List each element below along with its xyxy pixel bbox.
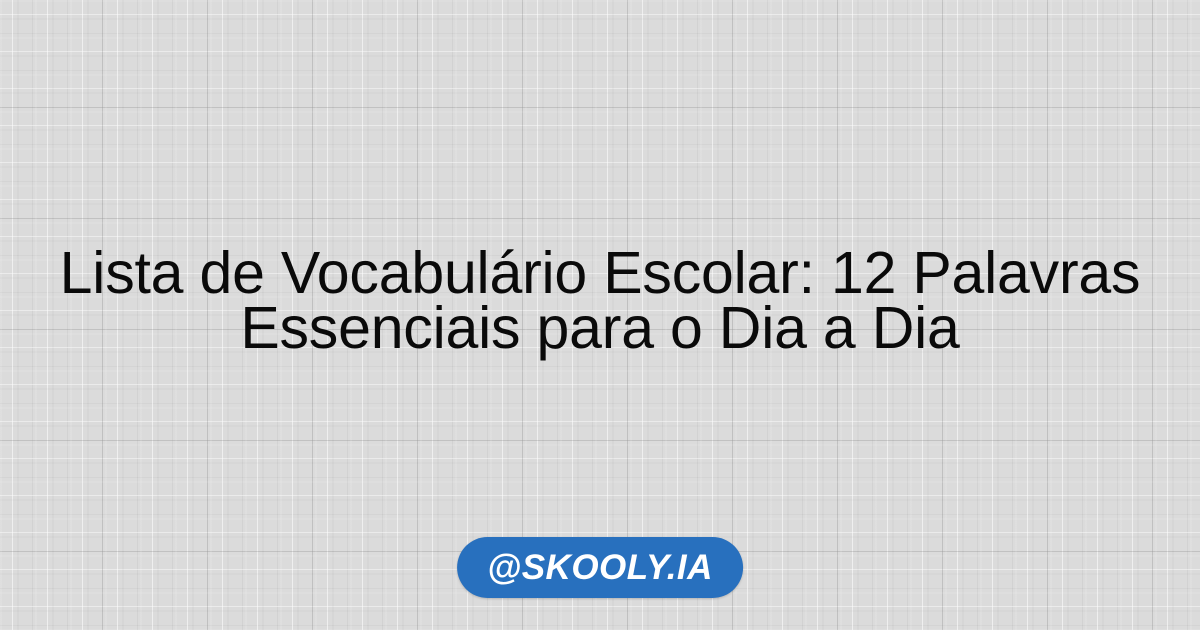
- card-content: Lista de Vocabulário Escolar: 12 Palavra…: [0, 0, 1200, 630]
- brand-handle-label: @SKOOLY.IA: [487, 550, 713, 585]
- brand-handle-badge[interactable]: @SKOOLY.IA: [457, 537, 743, 598]
- page-title: Lista de Vocabulário Escolar: 12 Palavra…: [0, 246, 1200, 356]
- social-share-card: Lista de Vocabulário Escolar: 12 Palavra…: [0, 0, 1200, 630]
